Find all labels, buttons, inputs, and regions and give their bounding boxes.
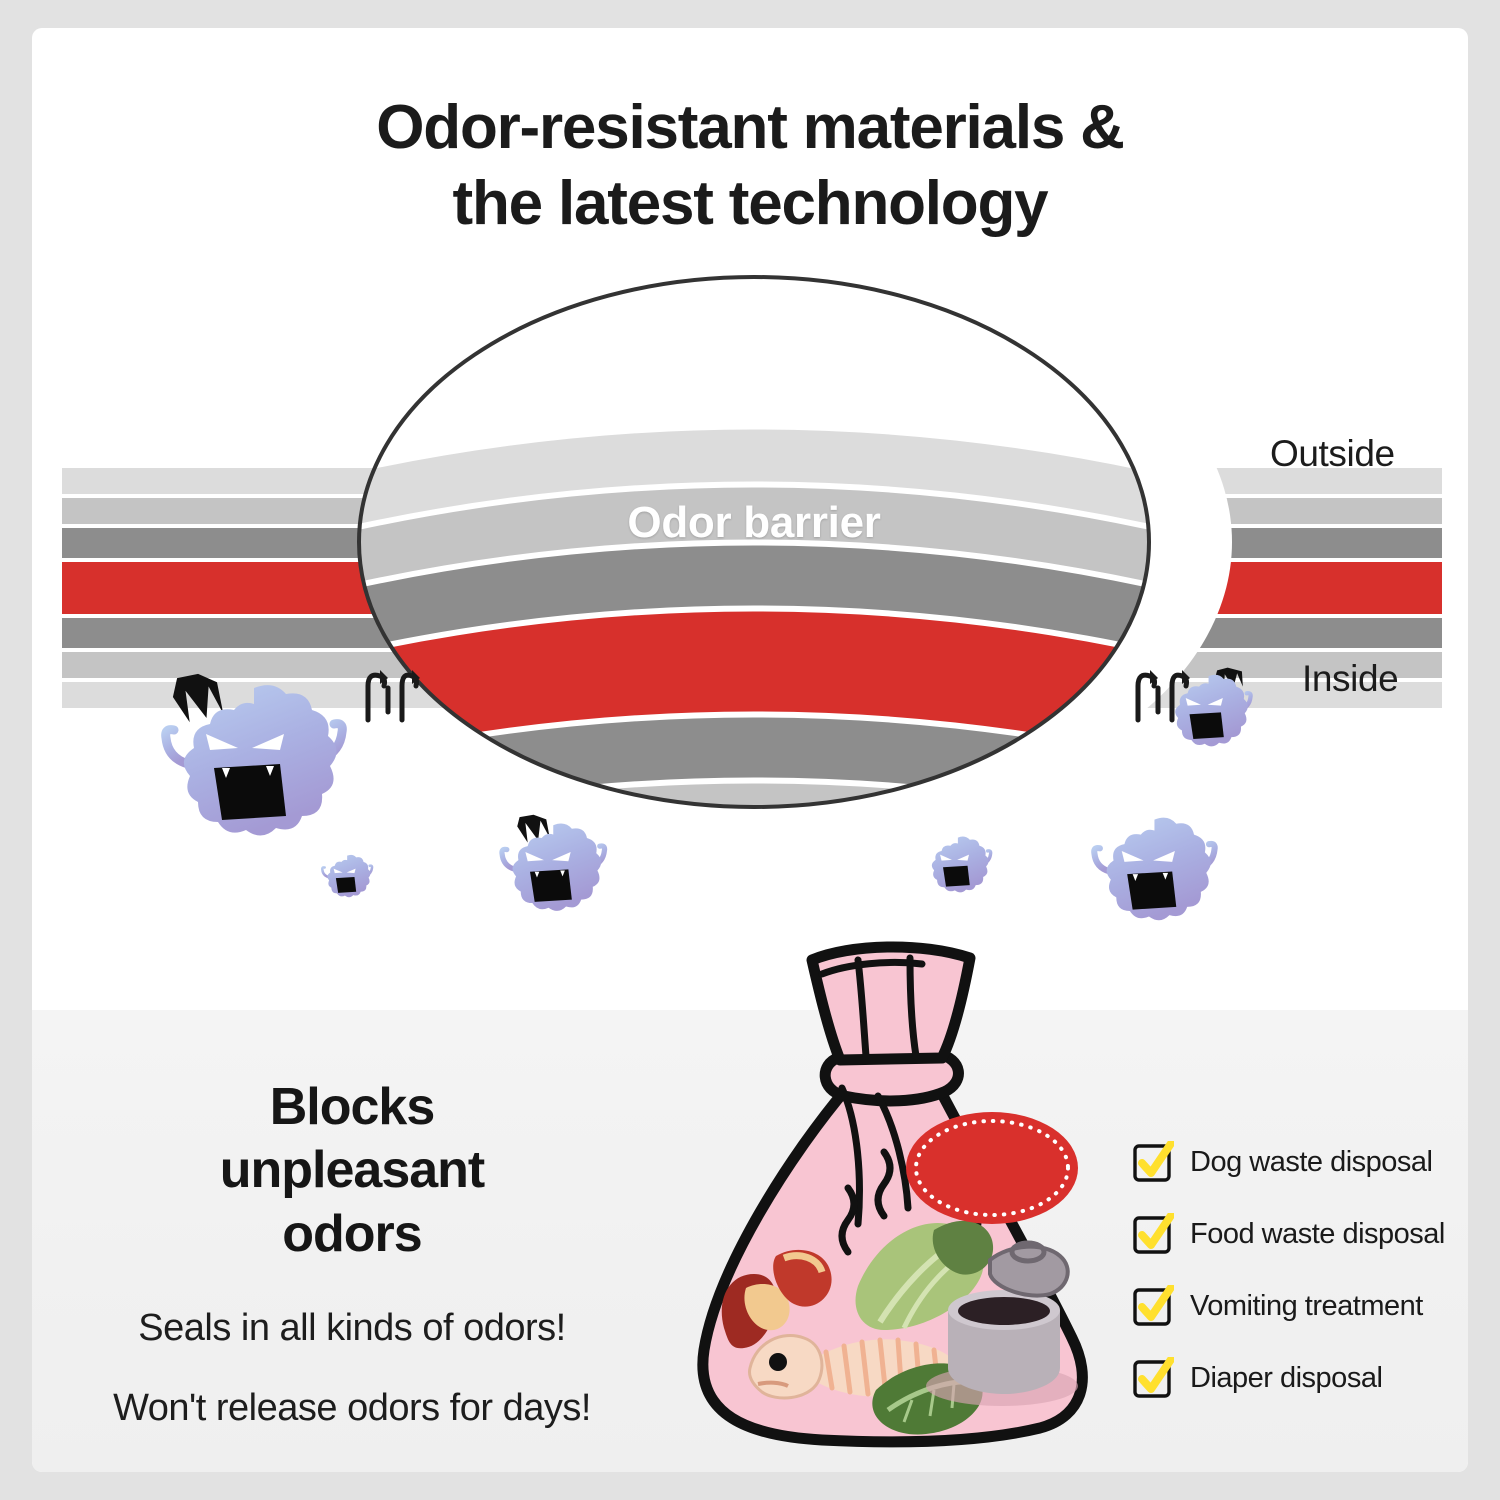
heading-line-1: Blocks: [92, 1076, 612, 1139]
monster-mouth: [336, 877, 356, 893]
deodorizer-badge: [904, 1110, 1080, 1226]
infographic-card: Odor-resistant materials & the latest te…: [32, 28, 1468, 1472]
checklist-item[interactable]: Vomiting treatment: [1132, 1270, 1462, 1342]
odor-monster-small-upper-right: [1160, 664, 1260, 774]
benefits-checklist: Dog waste disposal Food waste disposal V…: [1132, 1126, 1462, 1414]
waste-can-lid: [990, 1247, 1068, 1296]
monster-mouth: [943, 866, 970, 887]
heading-line-3: odors: [92, 1203, 612, 1266]
odor-monster-center: [494, 810, 616, 945]
monster-mouth: [1190, 712, 1224, 739]
checklist-item-label: Dog waste disposal: [1190, 1146, 1432, 1179]
checklist-item-label: Food waste disposal: [1190, 1218, 1445, 1251]
label-outside: Outside: [1270, 433, 1395, 475]
odor-monster-small-center-right: [920, 830, 998, 912]
heading-line-2: unpleasant: [92, 1139, 612, 1202]
blurb-subline-1: Seals in all kinds of odors!: [92, 1308, 612, 1350]
checkbox-checked-icon[interactable]: [1132, 1141, 1174, 1183]
waste-can-contents: [958, 1297, 1050, 1325]
bottom-heading: Blocks unpleasant odors: [92, 1076, 612, 1266]
checklist-item-label: Vomiting treatment: [1190, 1290, 1423, 1323]
stink-wave-left: [354, 664, 424, 726]
badge-fill: [906, 1112, 1078, 1224]
blurb-subline-2: Won't release odors for days!: [92, 1388, 612, 1430]
magnifier-lens: [354, 272, 1154, 812]
page-background: Odor-resistant materials & the latest te…: [0, 0, 1500, 1500]
checkbox-checked-icon[interactable]: [1132, 1285, 1174, 1327]
odor-monster-large-right: [1084, 806, 1229, 956]
checkbox-checked-icon[interactable]: [1132, 1357, 1174, 1399]
checklist-item[interactable]: Dog waste disposal: [1132, 1126, 1462, 1198]
label-inside: Inside: [1302, 658, 1398, 700]
checklist-item-label: Diaper disposal: [1190, 1362, 1382, 1395]
odor-monster-small-left: [317, 850, 379, 912]
checklist-item[interactable]: Food waste disposal: [1132, 1198, 1462, 1270]
waste-fish-eye: [769, 1353, 787, 1371]
checklist-item[interactable]: Diaper disposal: [1132, 1342, 1462, 1414]
checkbox-checked-icon[interactable]: [1132, 1213, 1174, 1255]
bottom-blurb: Blocks unpleasant odors Seals in all kin…: [92, 1076, 612, 1430]
